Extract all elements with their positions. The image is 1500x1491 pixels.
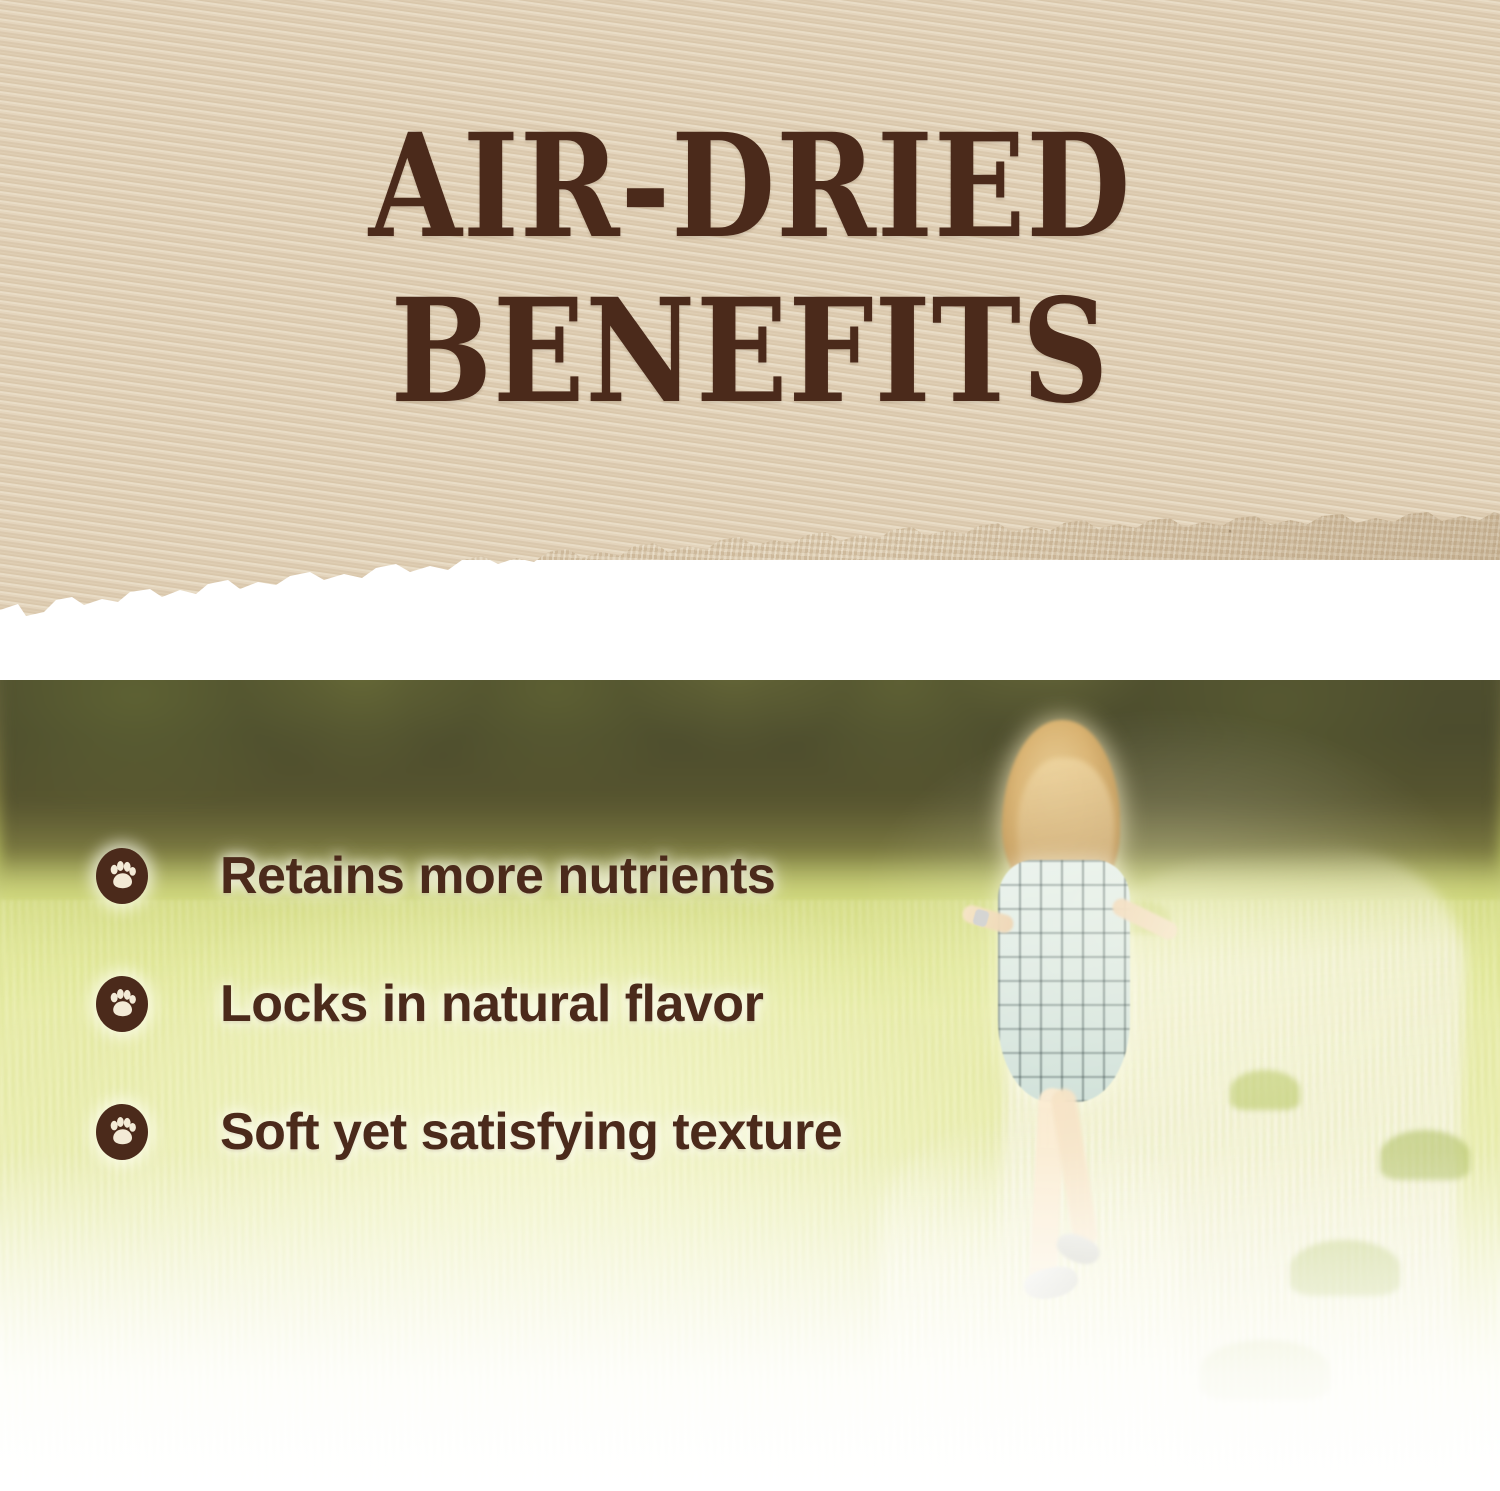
grass-tuft (1290, 1240, 1400, 1296)
list-item: Locks in natural flavor (0, 968, 1060, 1040)
list-item: Soft yet satisfying texture (0, 1096, 1060, 1168)
paw-icon (96, 1104, 148, 1160)
benefits-list: Retains more nutrients Locks in natural … (0, 840, 1060, 1224)
benefit-label: Locks in natural flavor (220, 974, 763, 1034)
benefit-label: Retains more nutrients (220, 846, 775, 906)
grass-tuft (1200, 1340, 1330, 1400)
page-title-line-1: AIR-DRIED (120, 118, 1380, 255)
torn-paper-white-gap (0, 560, 1500, 680)
paw-icon (96, 848, 148, 904)
grass-tuft (1380, 1130, 1470, 1180)
page-title: AIR-DRIED BENEFITS (0, 118, 1500, 421)
paw-icon (96, 976, 148, 1032)
page-title-line-2: BENEFITS (120, 283, 1380, 420)
benefit-label: Soft yet satisfying texture (220, 1102, 842, 1162)
grass-tuft (1230, 1070, 1300, 1110)
list-item: Retains more nutrients (0, 840, 1060, 912)
product-benefits-infographic: AIR-DRIED BENEFITS (0, 0, 1500, 1491)
